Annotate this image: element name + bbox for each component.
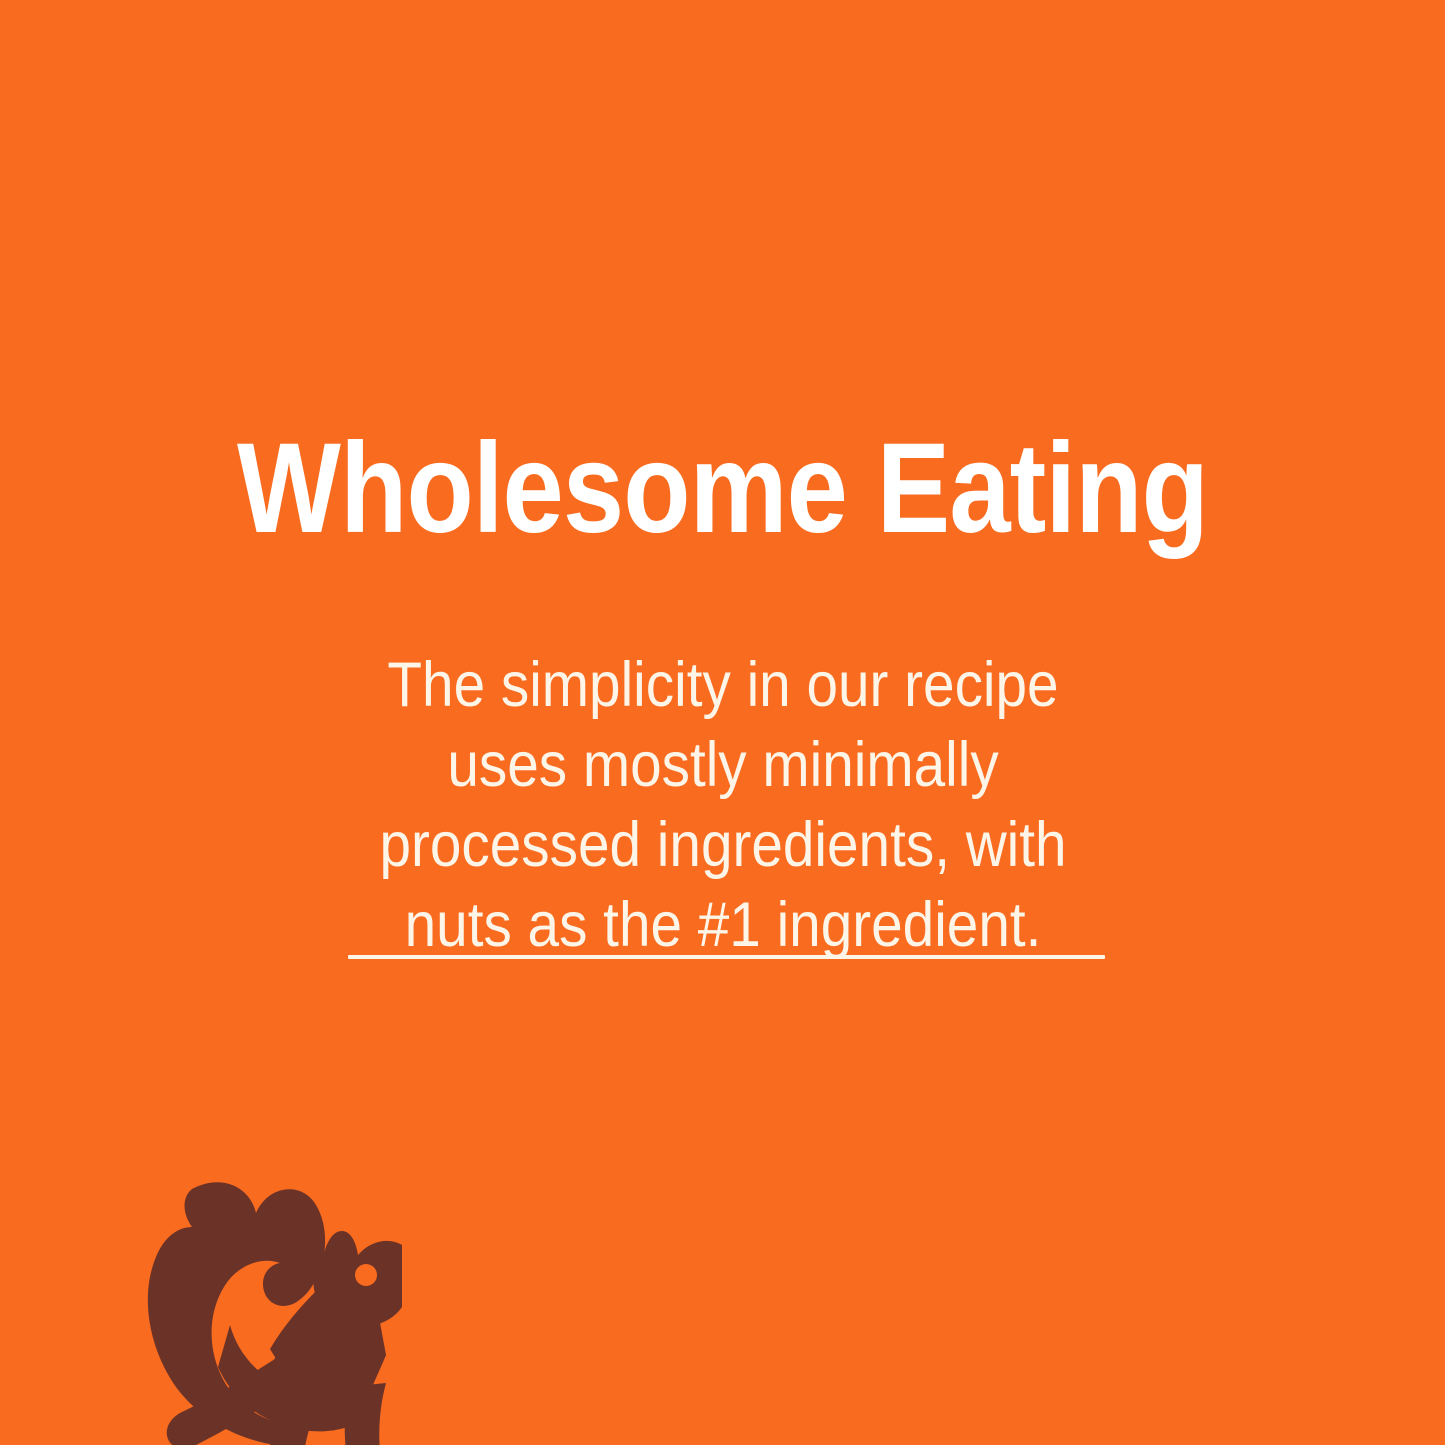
squirrel-logo [72, 1179, 402, 1445]
squirrel-eye [355, 1264, 377, 1286]
divider-rule [348, 955, 1105, 959]
body-paragraph: The simplicity in our recipe uses mostly… [303, 645, 1143, 965]
body-line-2: uses mostly minimally [345, 725, 1101, 805]
body-line-1: The simplicity in our recipe [345, 645, 1101, 725]
page-title: Wholesome Eating [101, 425, 1344, 553]
body-line-3: processed ingredients, with [345, 805, 1101, 885]
promo-card: Wholesome Eating The simplicity in our r… [0, 0, 1445, 1445]
body-line-4: nuts as the #1 ingredient. [345, 885, 1101, 965]
